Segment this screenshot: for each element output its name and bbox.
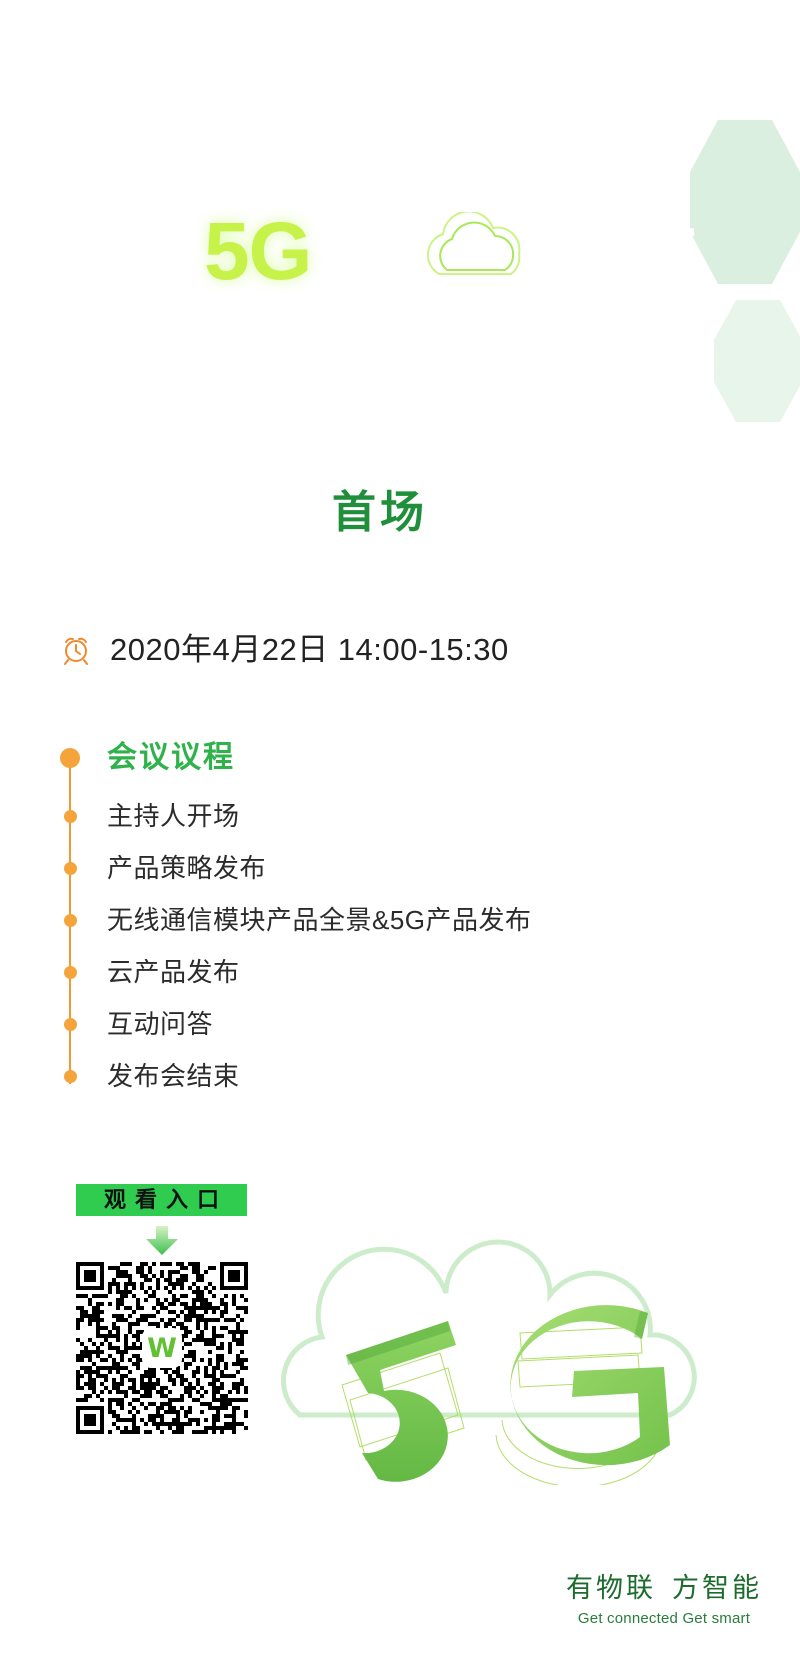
first-session-badge: 首场 bbox=[298, 478, 462, 548]
agenda-item: 产品策略发布 bbox=[60, 842, 720, 894]
watch-entry-badge[interactable]: 观看入口 bbox=[76, 1184, 247, 1216]
agenda-item-dot bbox=[64, 966, 77, 979]
event-datetime-text: 2020年4月22日 14:00-15:30 bbox=[110, 634, 509, 665]
footer-tagline-en: Get connected Get smart bbox=[566, 1611, 762, 1626]
neoway-wordmark-icon: neoway bbox=[58, 74, 258, 120]
headline-part3: 而生 bbox=[549, 215, 701, 290]
agenda-item-label: 无线通信模块产品全景&5G产品发布 bbox=[107, 907, 532, 933]
agenda-item: 发布会结束 bbox=[60, 1050, 720, 1102]
watch-entry-label: 观看入口 bbox=[95, 1189, 228, 1211]
brand-logo: neoway 有方 bbox=[58, 74, 342, 120]
headline-part2: 应 bbox=[333, 215, 409, 290]
event-datetime: 2020年4月22日 14:00-15:30 bbox=[60, 633, 509, 665]
cloud-icon bbox=[423, 212, 535, 292]
agenda-item-label: 云产品发布 bbox=[107, 959, 240, 985]
agenda-item-dot bbox=[64, 1070, 77, 1083]
agenda-item-label: 产品策略发布 bbox=[107, 855, 266, 881]
agenda-section: 会议议程 主持人开场 产品策略发布 无线通信模块产品全景&5G产品发布 云产品发… bbox=[60, 736, 720, 1102]
arrow-down-icon bbox=[144, 1226, 180, 1261]
qr-center-logo: W bbox=[142, 1328, 182, 1368]
brand-logo-cn: 有方 bbox=[264, 80, 342, 120]
poster-root: neoway 有方 畅联 5G 应 而生 2020新产品线上发布会 首场 bbox=[0, 0, 800, 1666]
agenda-item-label: 主持人开场 bbox=[107, 803, 240, 829]
agenda-item-label: 发布会结束 bbox=[107, 1063, 240, 1089]
hero-headline: 畅联 5G 应 而生 bbox=[52, 206, 701, 298]
agenda-item-dot bbox=[64, 1018, 77, 1031]
agenda-item: 互动问答 bbox=[60, 998, 720, 1050]
first-session-label: 首场 bbox=[298, 491, 462, 535]
hero-subhead: 2020新产品线上发布会 bbox=[58, 322, 581, 372]
footer-tagline-cn-left: 有物联 bbox=[566, 1573, 656, 1603]
agenda-item-dot bbox=[64, 862, 77, 875]
agenda-item-dot bbox=[64, 810, 77, 823]
footer-tagline-cn-right: 方智能 bbox=[672, 1573, 762, 1603]
agenda-title: 会议议程 bbox=[107, 743, 235, 773]
agenda-item-dot bbox=[64, 914, 77, 927]
agenda-item: 无线通信模块产品全景&5G产品发布 bbox=[60, 894, 720, 946]
headline-5g: 5G bbox=[204, 211, 311, 293]
agenda-header-dot bbox=[60, 748, 80, 768]
qr-logo-letter: W bbox=[147, 1335, 177, 1362]
headline-part1: 畅联 bbox=[52, 215, 204, 290]
5g-cloud-artwork: 5G bbox=[250, 1185, 750, 1485]
footer-tagline-cn: 有物联方智能 bbox=[566, 1573, 762, 1604]
agenda-item: 主持人开场 bbox=[60, 790, 720, 842]
alarm-clock-icon bbox=[60, 633, 92, 665]
agenda-header: 会议议程 bbox=[60, 736, 720, 780]
qr-code[interactable]: W bbox=[76, 1262, 248, 1434]
agenda-item: 云产品发布 bbox=[60, 946, 720, 998]
footer-tagline: 有物联方智能 Get connected Get smart bbox=[566, 1573, 762, 1626]
agenda-item-label: 互动问答 bbox=[107, 1011, 213, 1037]
